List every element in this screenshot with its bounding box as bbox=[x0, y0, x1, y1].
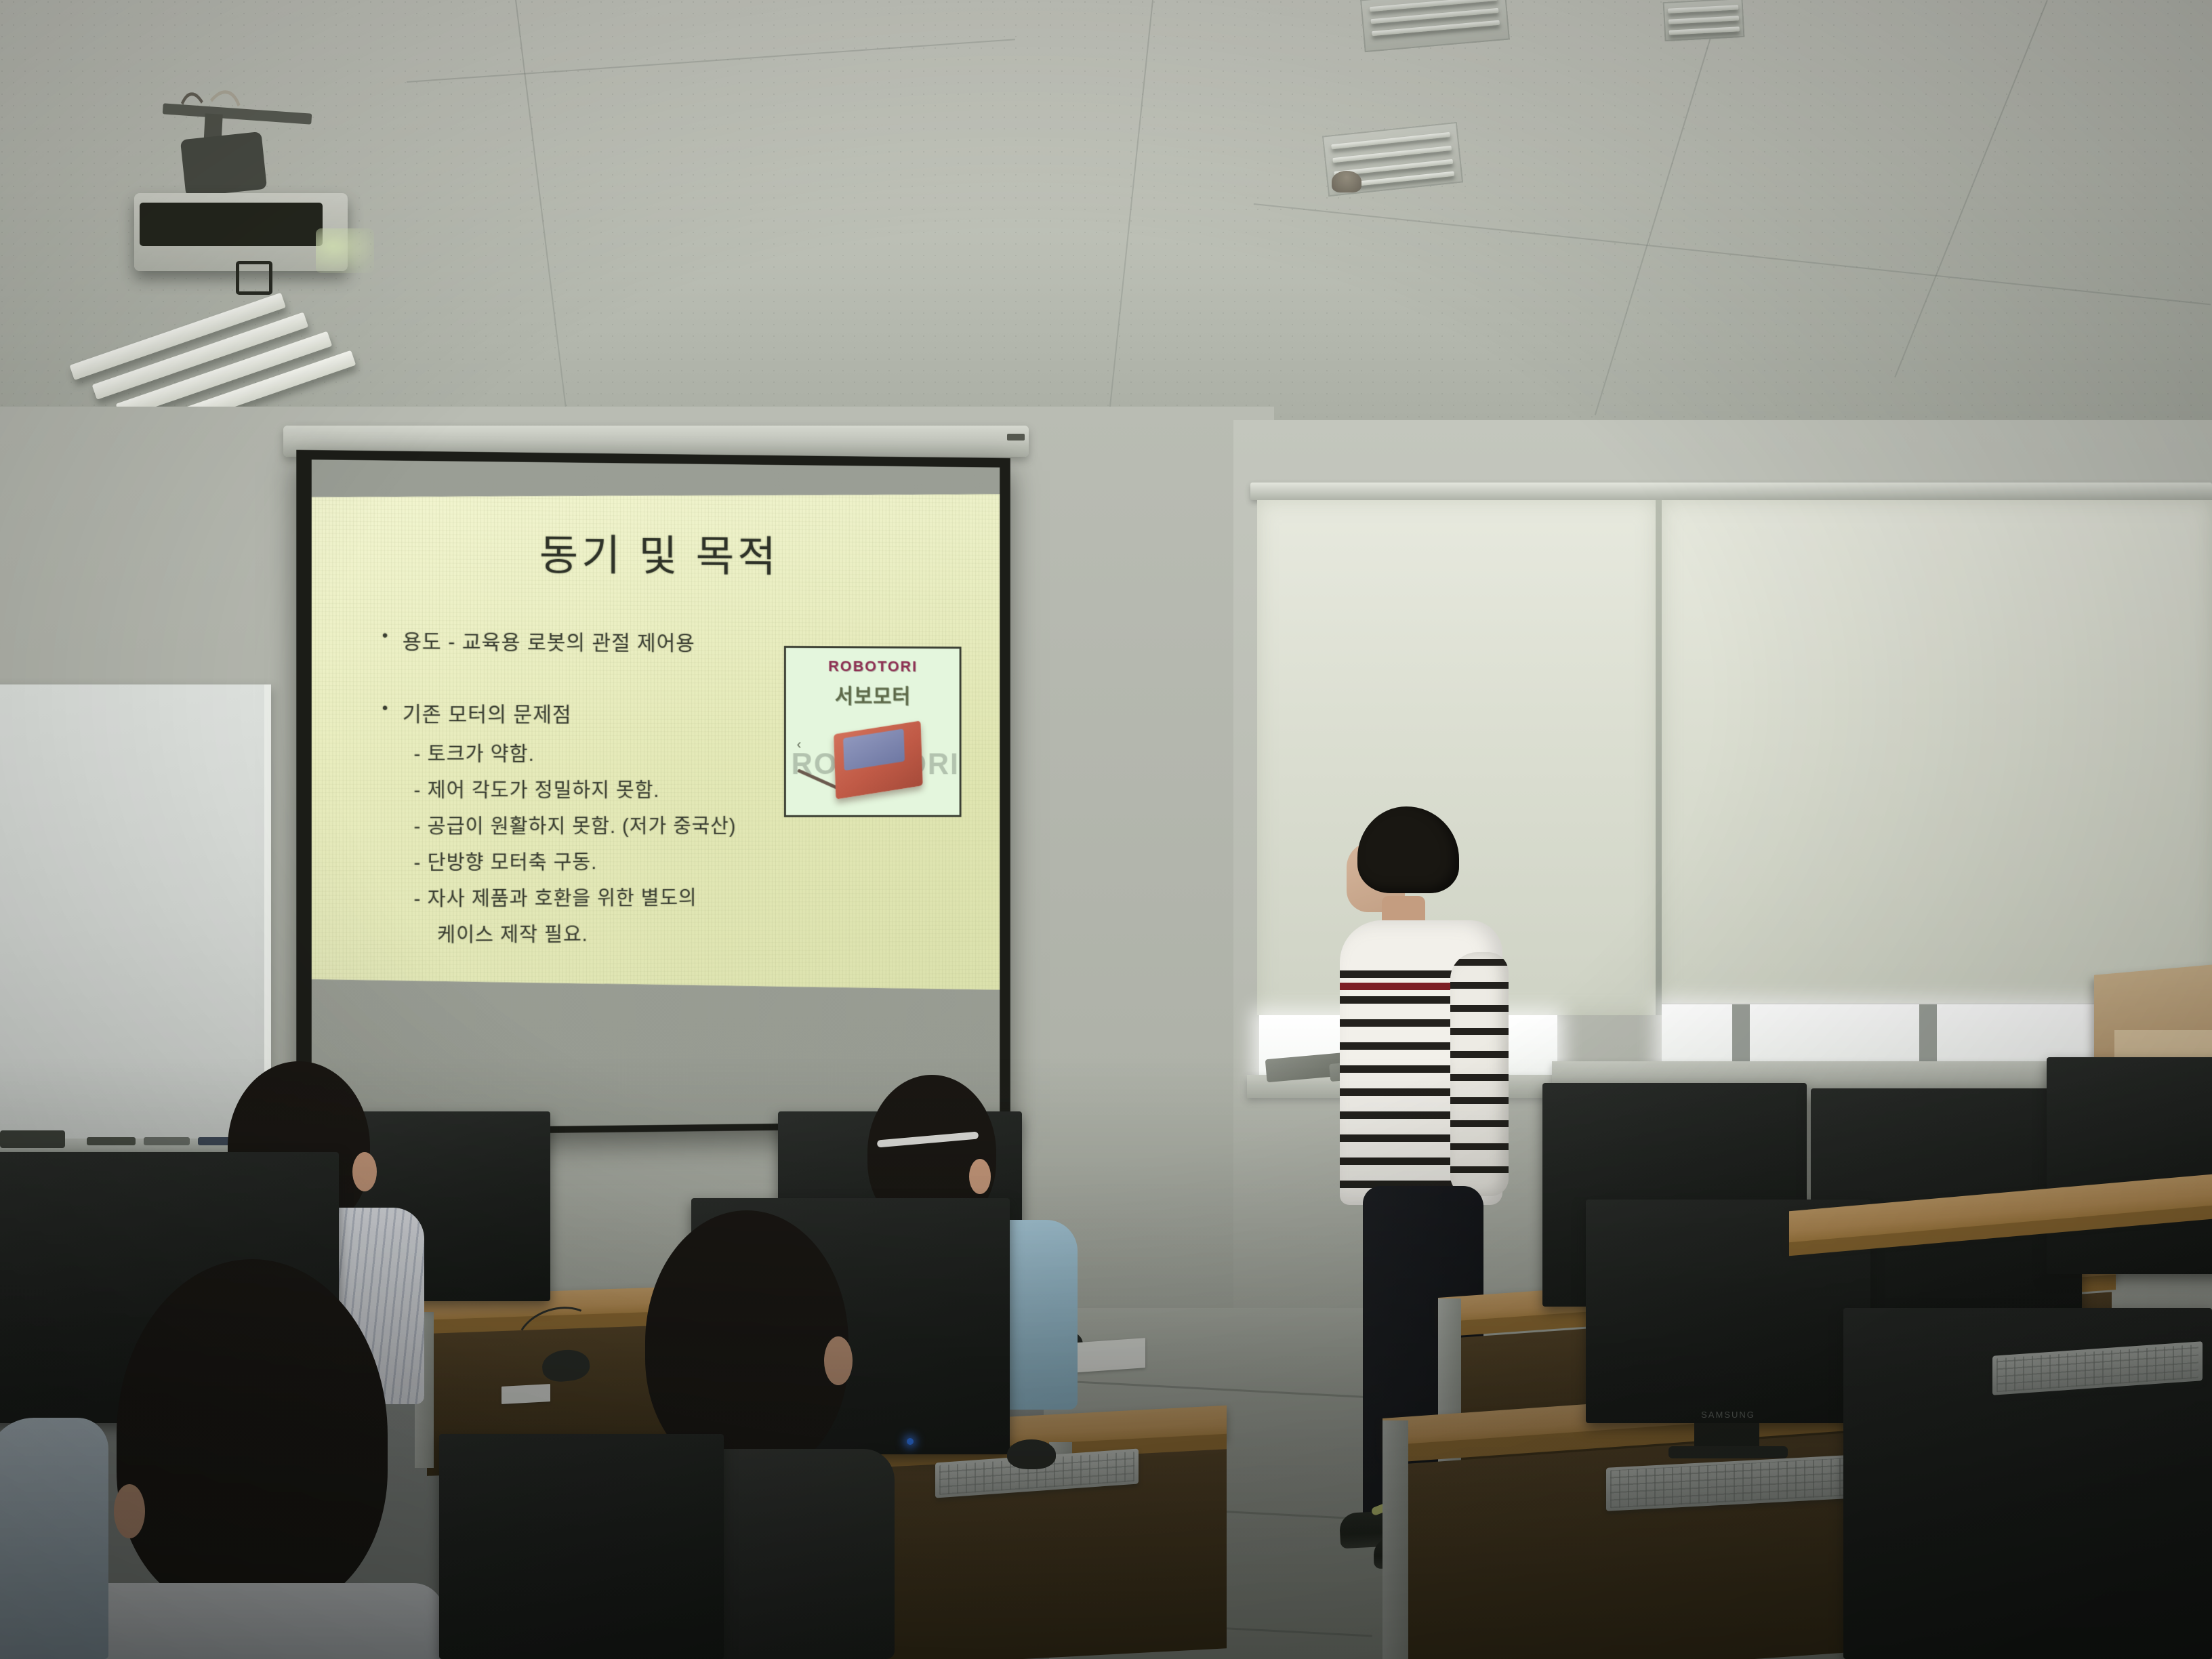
presenter-hair bbox=[1357, 806, 1459, 893]
monitor[interactable] bbox=[2047, 1057, 2212, 1274]
projector-lens-band bbox=[140, 203, 323, 246]
slide-product-image: ROBOTORI 서보모터 ROBOTORI ‹ bbox=[784, 646, 962, 817]
student-ear bbox=[114, 1484, 145, 1538]
power-led-indicator bbox=[907, 1438, 914, 1445]
ceiling-air-vent bbox=[1663, 0, 1745, 41]
presenter-arm bbox=[1450, 952, 1509, 1196]
servo-motor-graphic bbox=[834, 720, 923, 799]
paper-sheet bbox=[1071, 1338, 1145, 1373]
screen-endcap bbox=[1007, 434, 1025, 441]
paper-sheet bbox=[501, 1384, 550, 1404]
mouse[interactable] bbox=[1007, 1439, 1056, 1469]
student-ear bbox=[969, 1159, 991, 1194]
student-torso bbox=[0, 1418, 108, 1659]
slide-title: 동기 및 목적 bbox=[342, 519, 971, 586]
slide-sub-bullet-continuation: 케이스 제작 필요. bbox=[437, 917, 970, 948]
marker-pen[interactable] bbox=[144, 1137, 190, 1145]
monitor-base bbox=[1668, 1446, 1788, 1458]
slide-sub-bullet: - 자사 제품과 호환을 위한 별도의 bbox=[414, 882, 971, 912]
whiteboard bbox=[0, 684, 271, 1159]
projection-screen: 동기 및 목적 • 용도 - 교육용 로봇의 관절 제어용 • 기존 모터의 문… bbox=[296, 450, 1010, 1136]
projector-light-glow bbox=[316, 228, 374, 273]
marker-pen[interactable] bbox=[87, 1137, 136, 1145]
projector-body bbox=[134, 193, 348, 271]
ceiling-projector bbox=[108, 95, 393, 319]
product-brand-label: ROBOTORI bbox=[786, 657, 960, 676]
projected-slide: 동기 및 목적 • 용도 - 교육용 로봇의 관절 제어용 • 기존 모터의 문… bbox=[312, 487, 1000, 995]
classroom-scene: 동기 및 목적 • 용도 - 교육용 로봇의 관절 제어용 • 기존 모터의 문… bbox=[0, 0, 2212, 1659]
student-head bbox=[117, 1259, 388, 1612]
monitor-brand-label: SAMSUNG bbox=[1701, 1410, 1755, 1420]
slide-sub-bullet: - 단방향 모터축 구동. bbox=[414, 846, 971, 876]
product-arrow-icon: ‹ bbox=[797, 737, 802, 752]
desk-leg bbox=[1382, 1420, 1408, 1659]
bullet-text: 기존 모터의 문제점 bbox=[403, 697, 572, 728]
bullet-marker: • bbox=[382, 625, 389, 648]
whiteboard-eraser bbox=[0, 1130, 65, 1148]
blind-track bbox=[1250, 483, 2212, 500]
projection-screen-surface: 동기 및 목적 • 용도 - 교육용 로봇의 관절 제어용 • 기존 모터의 문… bbox=[312, 459, 1000, 1129]
bullet-marker: • bbox=[382, 697, 389, 720]
bullet-text: 용도 - 교육용 로봇의 관절 제어용 bbox=[403, 625, 695, 656]
student-torso bbox=[65, 1583, 445, 1659]
blind-seam bbox=[1656, 500, 1662, 1015]
product-caption-label: 서보모터 bbox=[786, 679, 960, 710]
projector-lens-icon bbox=[236, 261, 272, 295]
student-ear bbox=[824, 1336, 853, 1385]
monitor[interactable] bbox=[439, 1434, 724, 1659]
roller-blind-right[interactable] bbox=[1662, 500, 2212, 1003]
student-ear bbox=[352, 1152, 377, 1191]
ceiling-sprinkler-icon bbox=[1332, 171, 1361, 192]
